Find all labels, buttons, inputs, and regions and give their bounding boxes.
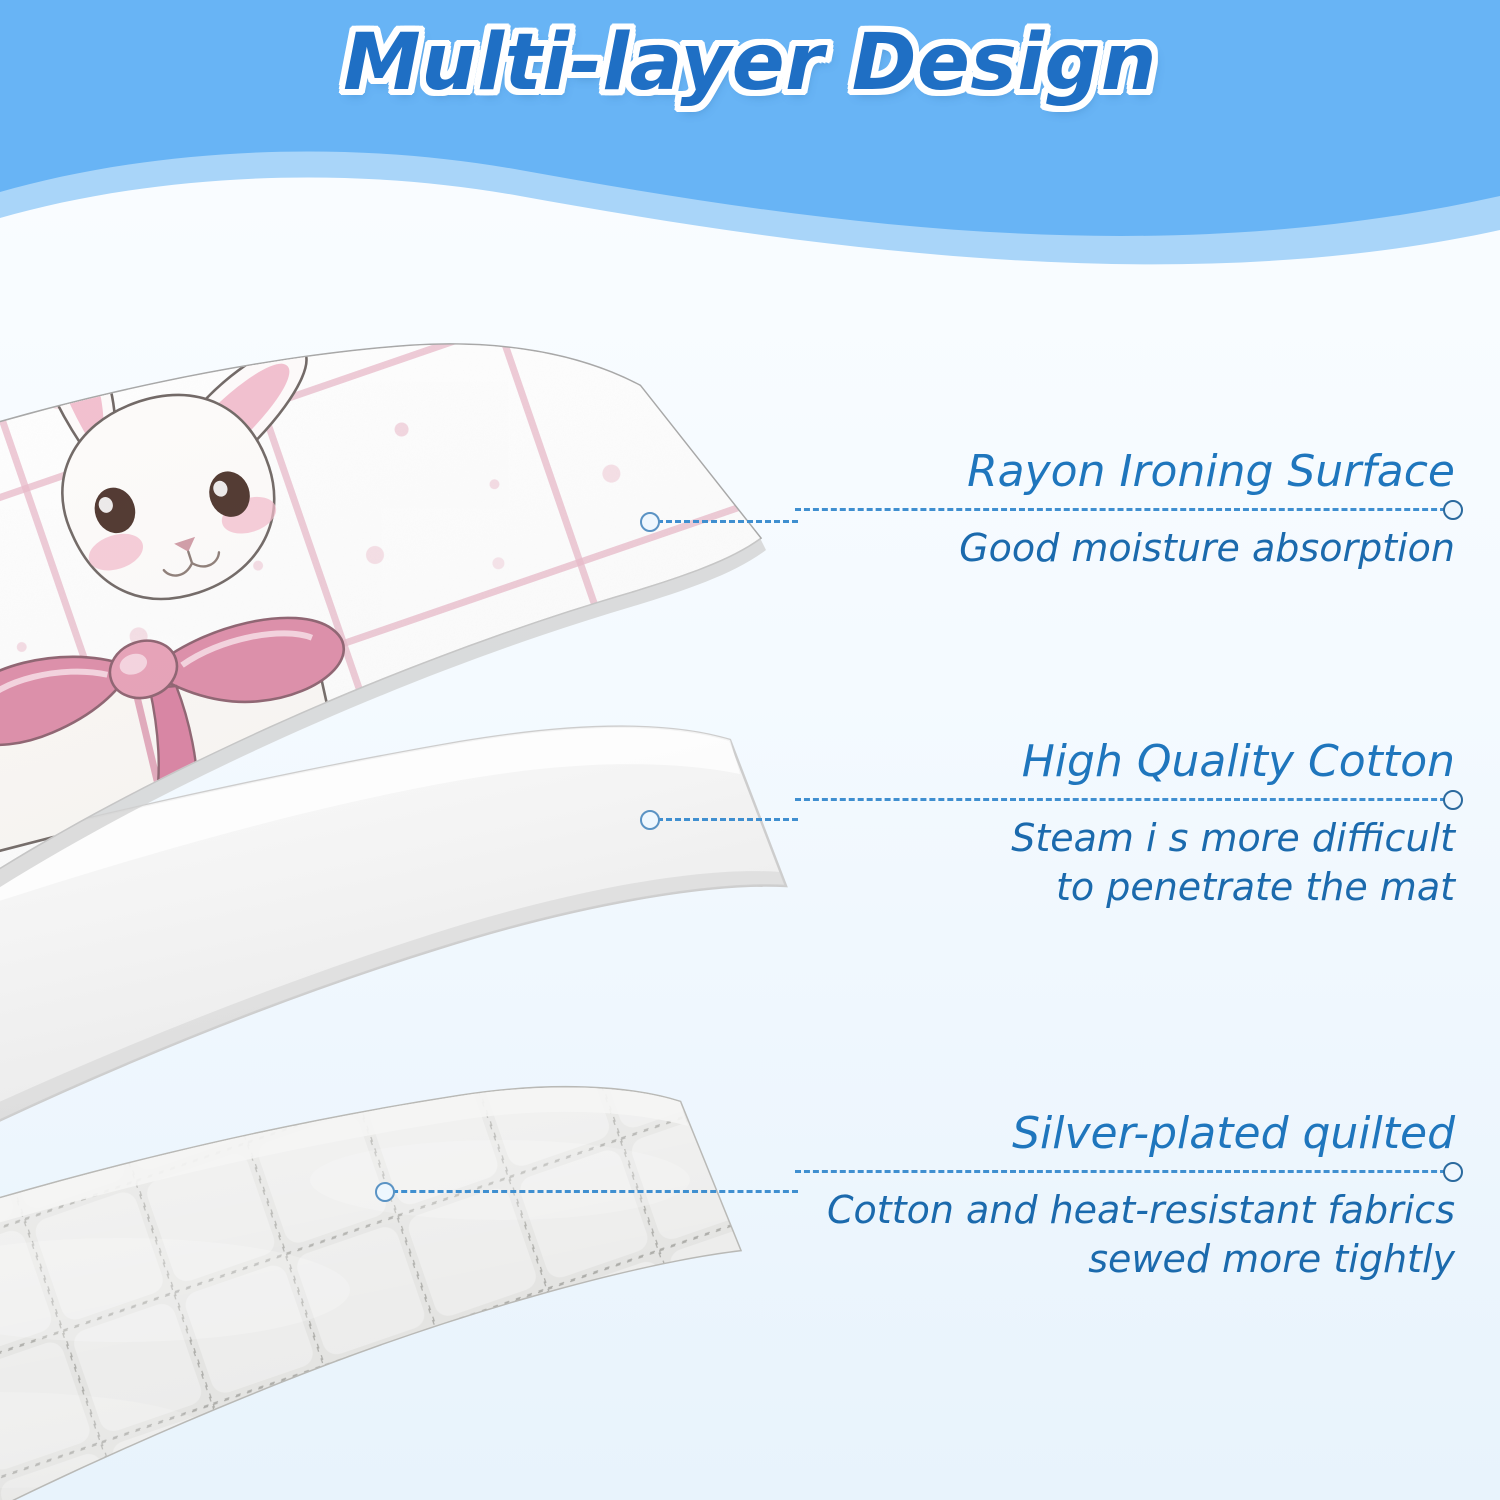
page-title: Multi-layer Design [343, 18, 1157, 108]
page-title-container: Multi-layer Design [0, 18, 1500, 108]
feature-title-3: Silver-plated quilted [795, 1110, 1455, 1158]
product-layers-svg [0, 250, 920, 1500]
connector-dot-art-2 [640, 810, 660, 830]
feature-end-dot-1 [1443, 500, 1463, 520]
feature-title-1: Rayon Ironing Surface [795, 448, 1455, 496]
feature-rayon-ironing-surface: Rayon Ironing Surface Good moisture abso… [795, 448, 1455, 573]
feature-divider-1 [795, 508, 1455, 510]
infographic-canvas: Multi-layer Design [0, 0, 1500, 1500]
connector-line-1 [648, 520, 798, 523]
feature-end-dot-2 [1443, 790, 1463, 810]
feature-silver-plated-quilted: Silver-plated quilted Cotton and heat-re… [795, 1110, 1455, 1284]
connector-line-3 [383, 1190, 798, 1193]
connector-line-2 [648, 818, 798, 821]
product-layers-illustration [0, 250, 920, 1500]
feature-subtitle-1: Good moisture absorption [795, 524, 1455, 573]
layer-silver-quilted [0, 1050, 920, 1500]
feature-end-dot-3 [1443, 1162, 1463, 1182]
connector-dot-art-3 [375, 1182, 395, 1202]
feature-dashed-rule-1 [795, 508, 1455, 511]
feature-title-2: High Quality Cotton [795, 738, 1455, 786]
feature-divider-3 [795, 1170, 1455, 1172]
feature-high-quality-cotton: High Quality Cotton Steam i s more diffi… [795, 738, 1455, 912]
feature-dashed-rule-3 [795, 1170, 1455, 1173]
connector-dot-art-1 [640, 512, 660, 532]
feature-divider-2 [795, 798, 1455, 800]
feature-subtitle-2: Steam i s more difficult to penetrate th… [795, 814, 1455, 911]
feature-subtitle-3: Cotton and heat-resistant fabrics sewed … [795, 1186, 1455, 1283]
feature-dashed-rule-2 [795, 798, 1455, 801]
